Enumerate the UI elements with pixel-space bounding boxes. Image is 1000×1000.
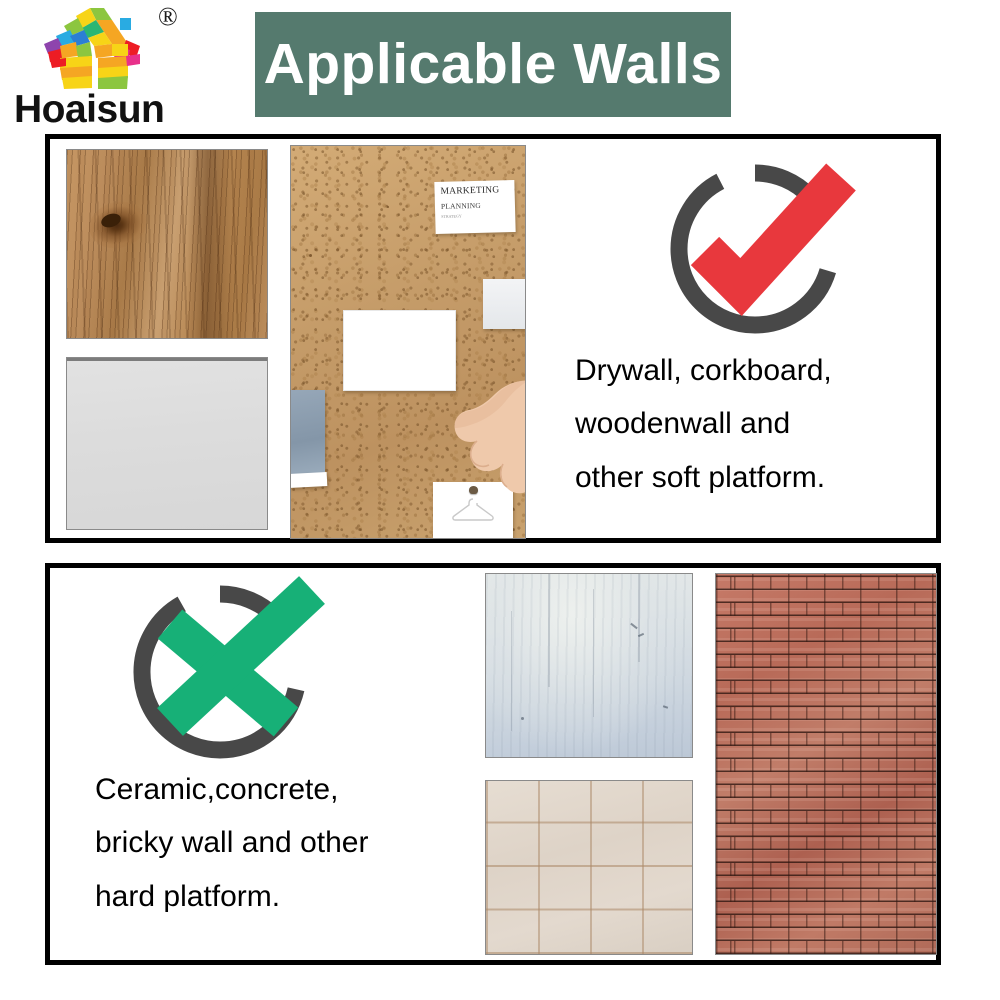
corkboard-note-right [483,279,526,329]
not-applicable-walls-panel: Ceramic,concrete, bricky wall and other … [45,563,941,965]
caption-line: woodenwall and [575,397,935,450]
note-subtitle: PLANNING [441,200,509,211]
applicable-walls-panel: MARKETING PLANNING STRATEGY [45,134,941,543]
corkboard-note-blue [290,390,325,482]
concrete-wall-photo [485,573,693,758]
wood-texture-photo [66,149,268,339]
brand-logo: ® Hoaisun [12,2,192,130]
caption-line: Drywall, corkboard, [575,344,935,397]
check-circle-icon [645,159,865,339]
corkboard-note-marketing: MARKETING PLANNING STRATEGY [434,180,515,234]
hand-illustration [439,328,526,538]
applicable-caption: Drywall, corkboard, woodenwall and other… [575,344,935,504]
drywall-panel-photo [66,357,268,530]
brick-wall-photo [715,573,937,955]
caption-line: other soft platform. [575,451,935,504]
page-header: ® Hoaisun Applicable Walls [0,0,1000,120]
not-applicable-caption: Ceramic,concrete, bricky wall and other … [95,763,475,923]
house-logo-icon [30,6,160,90]
caption-line: bricky wall and other [95,816,475,869]
corkboard-note-blue-edge [290,472,327,488]
registered-trademark-icon: ® [158,4,178,30]
caption-line: Ceramic,concrete, [95,763,475,816]
corkboard-photo: MARKETING PLANNING STRATEGY [290,145,526,539]
cross-circle-icon [108,576,336,766]
page-title: Applicable Walls [264,36,723,93]
note-caption: STRATEGY [441,212,509,219]
note-title: MARKETING [440,185,508,199]
ceramic-tile-photo [485,780,693,955]
caption-line: hard platform. [95,870,475,923]
title-banner: Applicable Walls [255,12,731,117]
brand-name: Hoaisun [14,90,192,129]
